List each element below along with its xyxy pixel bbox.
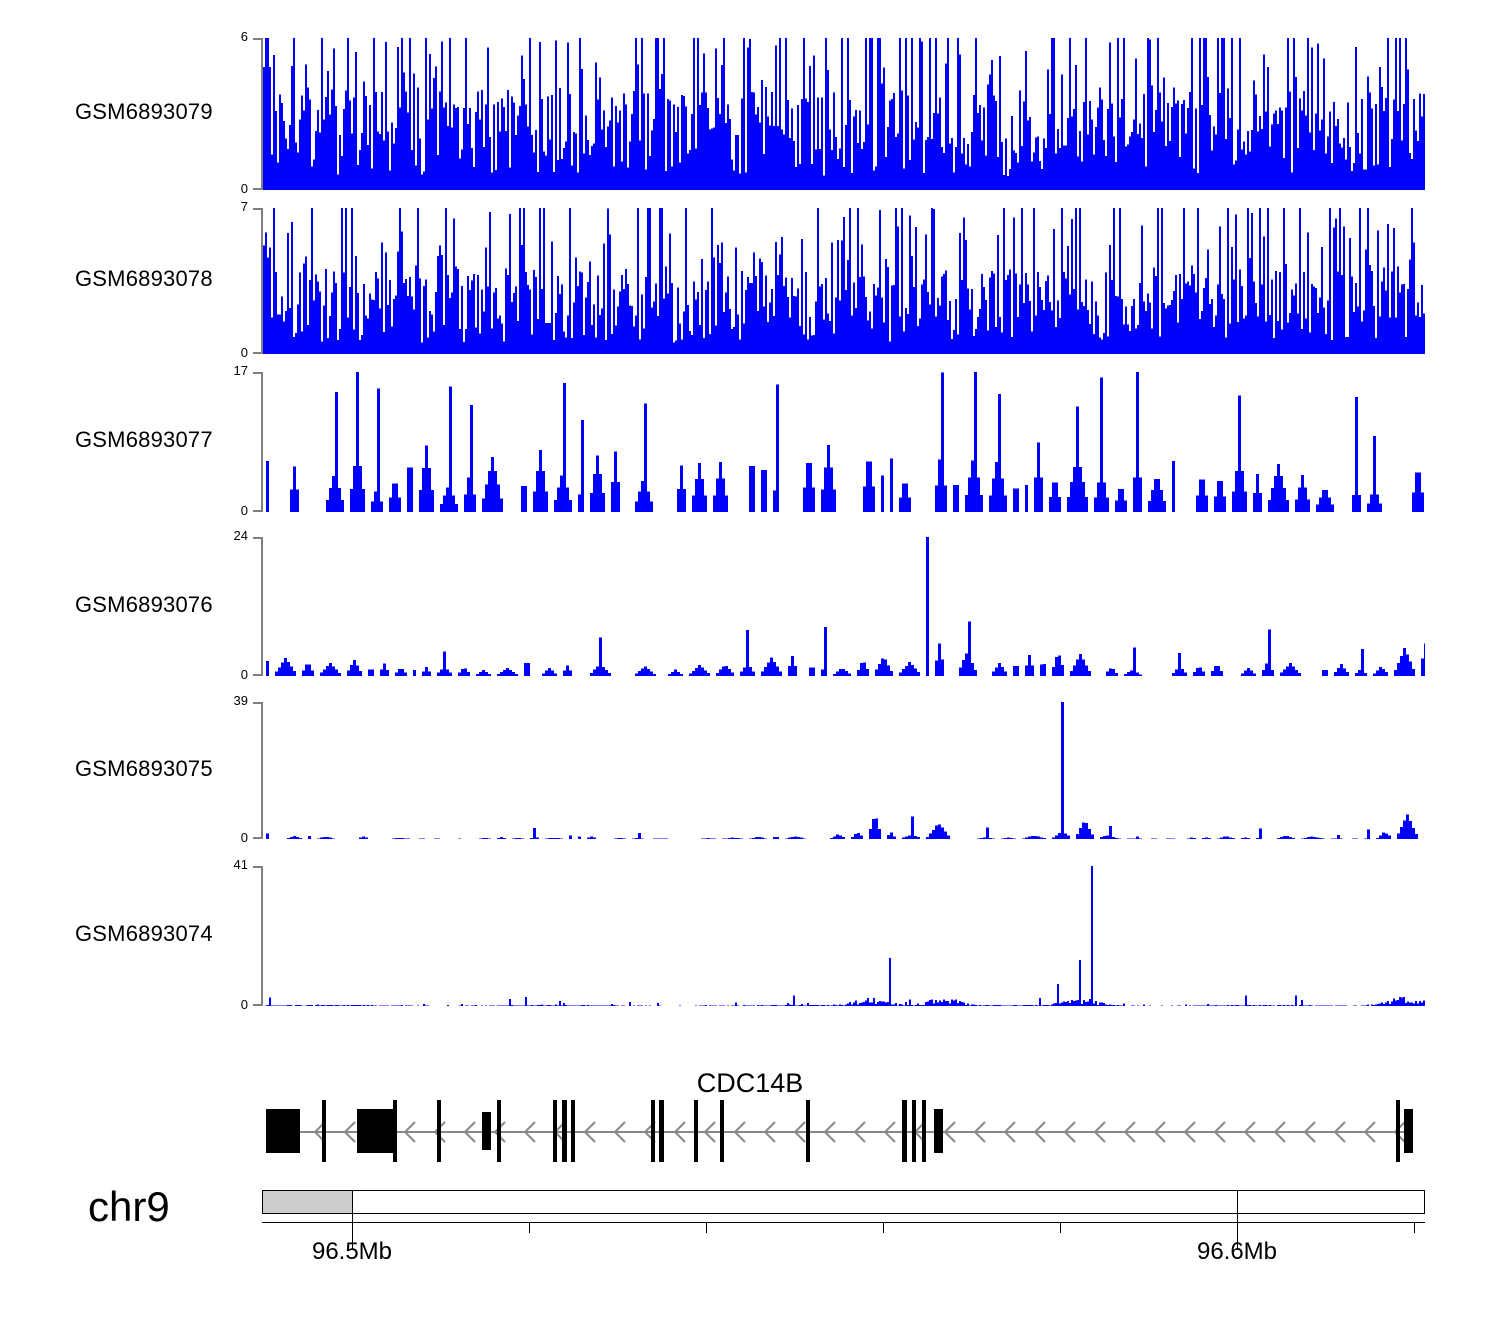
track-label: GSM6893077 [75, 427, 213, 453]
chromosome-label: chr9 [88, 1183, 170, 1231]
y-axis-tick-min [253, 188, 262, 190]
strand-arrow-icon [1243, 1120, 1259, 1149]
exon-block[interactable] [922, 1100, 926, 1162]
exon-block[interactable] [571, 1100, 575, 1162]
ruler-tick-minor [1060, 1222, 1061, 1233]
y-axis-tick-max [253, 866, 262, 868]
exon-block[interactable] [562, 1100, 567, 1162]
exon-block[interactable] [266, 1109, 300, 1153]
exon-block[interactable] [482, 1112, 491, 1150]
strand-arrow-icon [673, 1120, 689, 1149]
y-axis-min-label: 0 [212, 667, 248, 682]
coverage-signal[interactable] [263, 38, 1425, 190]
ruler-tick-minor [1414, 1222, 1415, 1233]
exon-block[interactable] [694, 1100, 698, 1162]
strand-arrow-icon [943, 1120, 959, 1149]
track-label: GSM6893078 [75, 266, 213, 292]
y-axis-min-label: 0 [212, 503, 248, 518]
ruler-label: 96.5Mb [292, 1238, 412, 1266]
y-axis-tick-max [253, 208, 262, 210]
y-axis-min-label: 0 [212, 997, 248, 1012]
exon-block[interactable] [322, 1100, 326, 1162]
strand-arrow-icon [583, 1120, 599, 1149]
ruler-axis-line [262, 1222, 1425, 1223]
strand-arrow-icon [1123, 1120, 1139, 1149]
strand-arrow-icon [613, 1120, 629, 1149]
y-axis-tick-min [253, 837, 262, 839]
exon-block[interactable] [934, 1109, 943, 1153]
coverage-signal[interactable] [263, 537, 1425, 676]
coverage-signal[interactable] [263, 866, 1425, 1006]
track-label: GSM6893074 [75, 921, 213, 947]
y-axis-max-label: 41 [212, 857, 248, 872]
y-axis-min-label: 0 [212, 181, 248, 196]
strand-arrow-icon [1063, 1120, 1079, 1149]
strand-arrow-icon [1033, 1120, 1049, 1149]
y-axis-tick-min [253, 674, 262, 676]
strand-arrow-icon [1093, 1120, 1109, 1149]
track-label: GSM6893076 [75, 592, 213, 618]
y-axis-max-label: 24 [212, 528, 248, 543]
strand-arrow-icon [1363, 1120, 1379, 1149]
exon-block[interactable] [720, 1100, 724, 1162]
y-axis-max-label: 39 [212, 693, 248, 708]
exon-block[interactable] [1404, 1109, 1413, 1153]
exon-block[interactable] [1396, 1100, 1400, 1162]
exon-block[interactable] [497, 1100, 501, 1162]
y-axis-tick-max [253, 38, 262, 40]
y-axis-tick-max [253, 702, 262, 704]
y-axis-tick-max [253, 537, 262, 539]
strand-arrow-icon [1213, 1120, 1229, 1149]
y-axis-max-label: 17 [212, 363, 248, 378]
strand-arrow-icon [1333, 1120, 1349, 1149]
exon-block[interactable] [357, 1109, 393, 1153]
strand-arrow-icon [853, 1120, 869, 1149]
track-label: GSM6893075 [75, 756, 213, 782]
strand-arrow-icon [1273, 1120, 1289, 1149]
exon-block[interactable] [651, 1100, 655, 1162]
gene-annotation-panel: CDC14B [0, 1060, 1500, 1190]
y-axis-min-label: 0 [212, 345, 248, 360]
ideogram[interactable] [262, 1190, 1425, 1214]
y-axis-max-label: 6 [212, 29, 248, 44]
strand-arrow-icon [1003, 1120, 1019, 1149]
strand-arrow-icon [433, 1120, 449, 1149]
ruler-tick-minor [883, 1222, 884, 1233]
strand-arrow-icon [733, 1120, 749, 1149]
exon-block[interactable] [393, 1100, 397, 1162]
y-axis-max-label: 7 [212, 199, 248, 214]
ruler-label: 96.6Mb [1177, 1238, 1297, 1266]
strand-arrow-icon [313, 1120, 329, 1149]
strand-arrow-icon [1183, 1120, 1199, 1149]
strand-arrow-icon [463, 1120, 479, 1149]
y-axis-tick-max [253, 372, 262, 374]
track-label: GSM6893079 [75, 99, 213, 125]
coverage-signal[interactable] [263, 702, 1425, 839]
strand-arrow-icon [403, 1120, 419, 1149]
y-axis-tick-min [253, 1004, 262, 1006]
strand-arrow-icon [763, 1120, 779, 1149]
strand-arrow-icon [823, 1120, 839, 1149]
genome-browser-canvas: GSM689307960GSM689307870GSM6893077170GSM… [0, 0, 1500, 1320]
ruler-tick-minor [529, 1222, 530, 1233]
strand-arrow-icon [883, 1120, 899, 1149]
strand-arrow-icon [973, 1120, 989, 1149]
exon-block[interactable] [806, 1100, 810, 1162]
strand-arrow-icon [1153, 1120, 1169, 1149]
exon-block[interactable] [553, 1100, 557, 1162]
y-axis-tick-min [253, 352, 262, 354]
exon-block[interactable] [659, 1100, 664, 1162]
strand-arrow-icon [523, 1120, 539, 1149]
exon-block[interactable] [437, 1100, 441, 1162]
strand-arrow-icon [1303, 1120, 1319, 1149]
exon-block[interactable] [912, 1100, 916, 1162]
strand-arrow-icon [493, 1120, 509, 1149]
y-axis-min-label: 0 [212, 830, 248, 845]
strand-arrow-icon [703, 1120, 719, 1149]
y-axis-tick-min [253, 510, 262, 512]
coverage-signal[interactable] [263, 208, 1425, 354]
gene-name-label: CDC14B [0, 1068, 1500, 1099]
exon-block[interactable] [902, 1100, 907, 1162]
ideogram-band [263, 1191, 352, 1213]
coverage-signal[interactable] [263, 372, 1425, 512]
ruler-tick-minor [706, 1222, 707, 1233]
